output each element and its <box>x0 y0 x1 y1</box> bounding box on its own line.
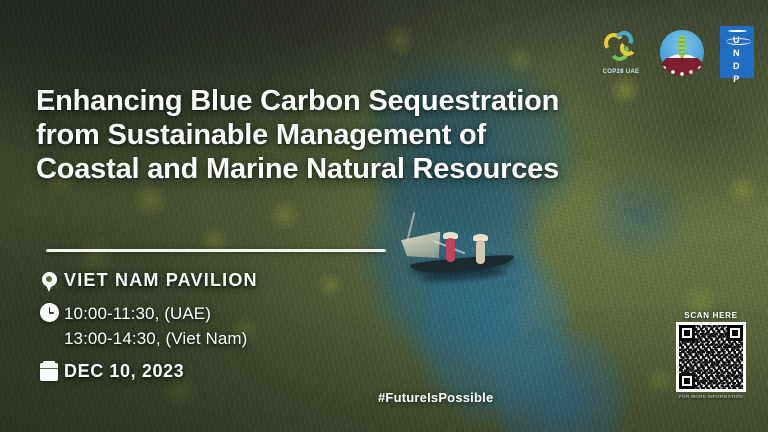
qr-finder-bottom-left <box>679 373 695 389</box>
mard-ribbon-band <box>658 52 706 76</box>
rower-body <box>476 240 485 264</box>
qr-module-grid <box>679 325 743 389</box>
undp-letter-n: N <box>733 48 741 58</box>
title-line-3: Coastal and Marine Natural Resources <box>36 152 656 186</box>
location-pin-icon <box>34 270 64 292</box>
undp-logo: U N D P <box>720 26 754 78</box>
time-uae: 10:00-11:30, (UAE) <box>64 301 247 326</box>
qr-footer: FOR MORE INFORMATION <box>672 394 750 400</box>
cop28-logo-caption: COP28 UAE <box>598 69 644 76</box>
date-label: DEC 10, 2023 <box>64 361 184 382</box>
qr-block[interactable]: SCAN HERE FOR MORE INFORMATION <box>672 311 750 400</box>
calendar-icon <box>34 361 64 381</box>
qr-finder-top-right <box>727 325 743 341</box>
hashtag-label: #FutureIsPossible <box>378 390 493 405</box>
mard-viet-nam-logo <box>658 28 706 76</box>
qr-title: SCAN HERE <box>672 311 750 320</box>
undp-letter-p: P <box>733 74 741 84</box>
venue-label: VIET NAM PAVILION <box>64 270 258 291</box>
un-globe-icon <box>728 30 747 32</box>
clock-icon <box>34 301 64 322</box>
title-line-2: from Sustainable Management of <box>36 118 656 152</box>
time-block: 10:00-11:30, (UAE) 13:00-14:30, (Viet Na… <box>64 301 247 351</box>
event-details: VIET NAM PAVILION 10:00-11:30, (UAE) 13:… <box>34 270 258 389</box>
title-divider <box>46 249 386 252</box>
page-title: Enhancing Blue Carbon Sequestration from… <box>36 84 656 186</box>
cop28-swirl-icon <box>602 30 640 60</box>
qr-finder-top-left <box>679 325 695 341</box>
detail-row-time: 10:00-11:30, (UAE) 13:00-14:30, (Viet Na… <box>34 301 258 351</box>
title-line-1: Enhancing Blue Carbon Sequestration <box>36 84 656 118</box>
time-viet-nam: 13:00-14:30, (Viet Nam) <box>64 326 247 351</box>
detail-row-venue: VIET NAM PAVILION <box>34 270 258 292</box>
cop28-uae-logo: COP28 UAE <box>598 28 644 76</box>
detail-row-date: DEC 10, 2023 <box>34 361 258 382</box>
rower-body <box>446 238 455 262</box>
undp-letter-d: D <box>733 61 741 71</box>
event-banner: COP28 UAE U N D P Enhancing Blue Carbon … <box>0 0 768 432</box>
qr-code[interactable] <box>676 322 746 392</box>
logo-strip: COP28 UAE U N D P <box>598 26 754 78</box>
rowboat-illustration <box>404 228 524 284</box>
